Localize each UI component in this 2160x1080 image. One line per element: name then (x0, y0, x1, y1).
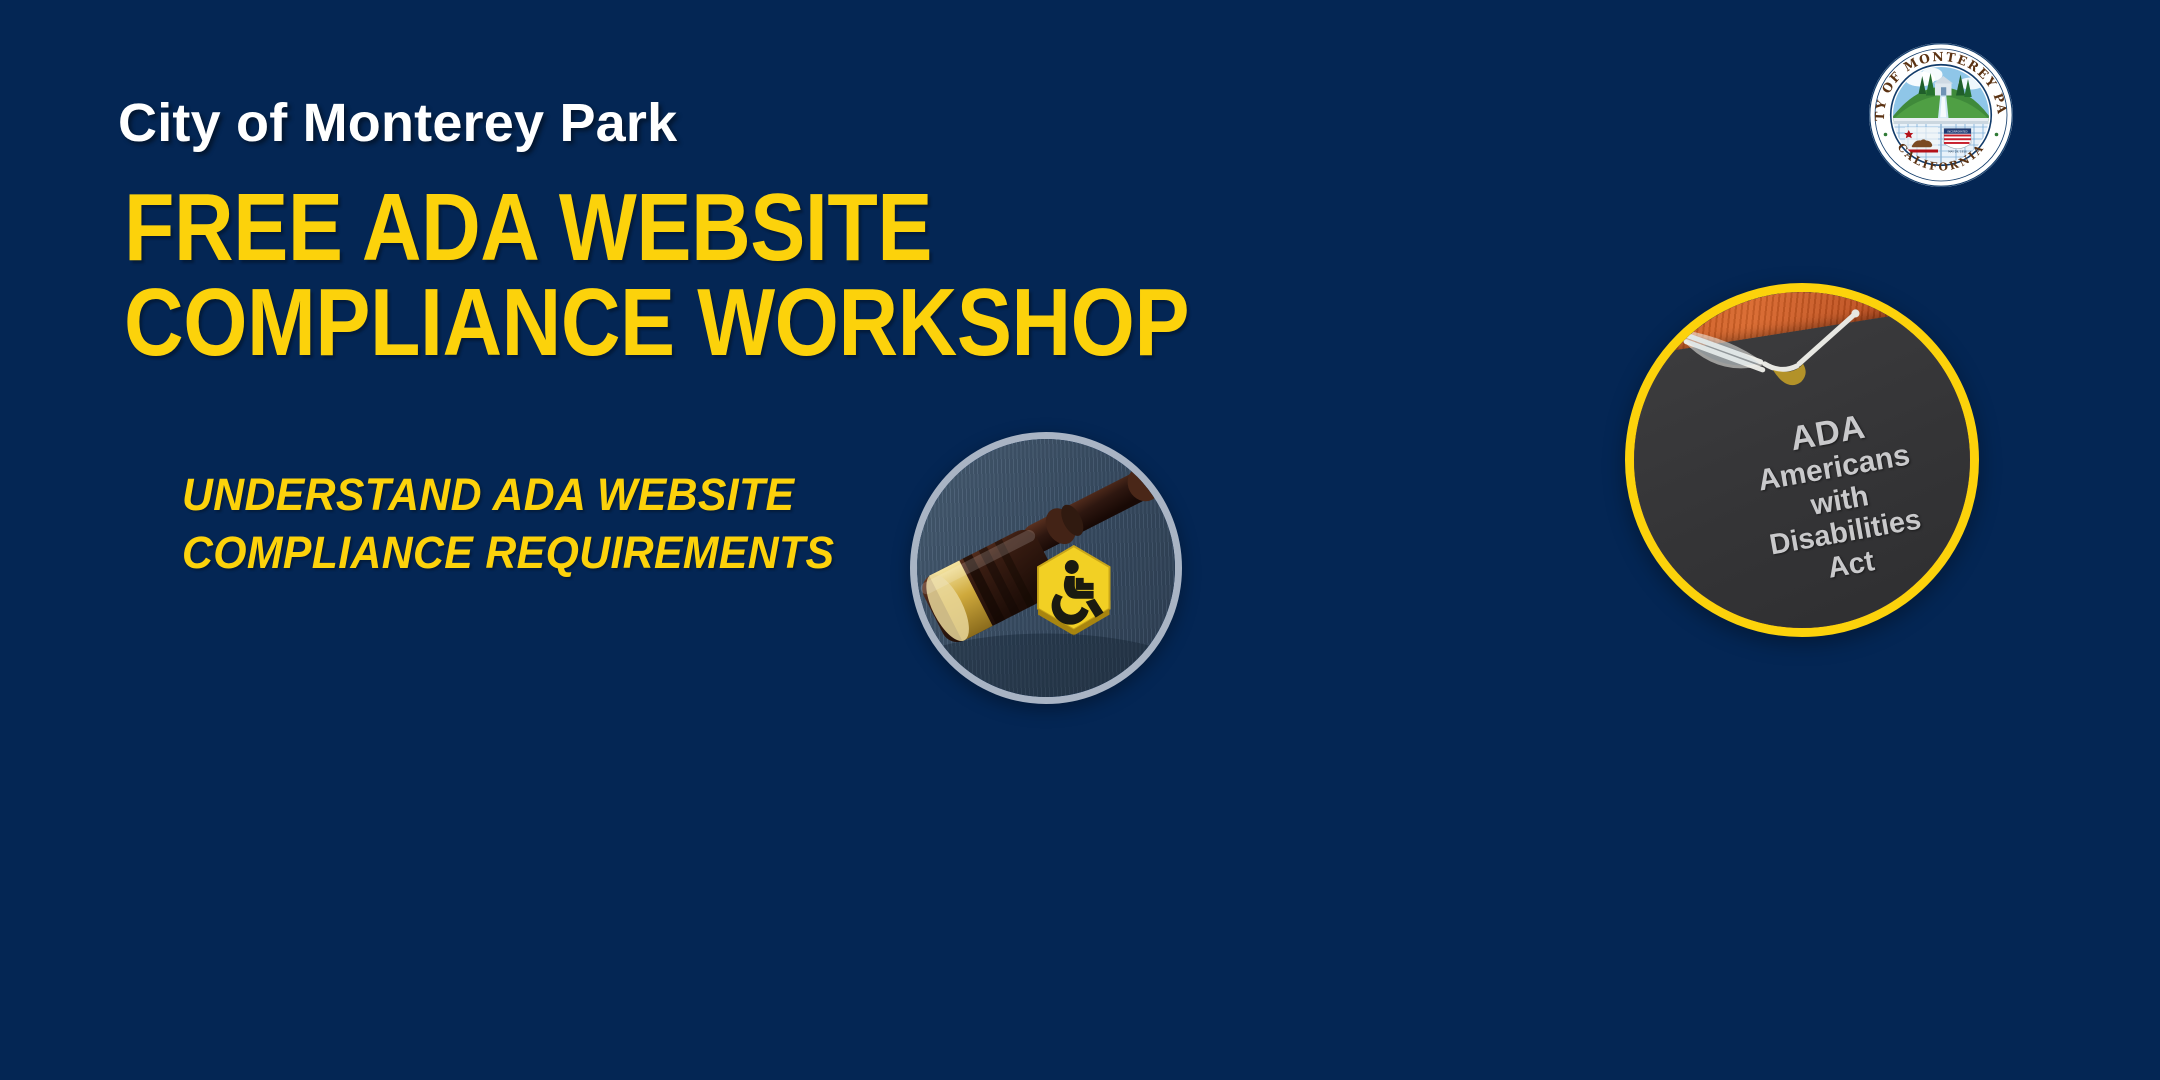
city-seal-logo: INCORPORATED MAY 29, 1916 CITY OF MONTER… (1866, 40, 2016, 190)
subheading: UNDERSTAND ADA WEBSITE COMPLIANCE REQUIR… (182, 466, 942, 581)
page-title: FREE ADA WEBSITE COMPLIANCE WORKSHOP (124, 180, 1036, 370)
subheading-line-2: COMPLIANCE REQUIREMENTS (182, 524, 942, 582)
ada-document-text: ADA Americans with Disabilities Act (1722, 396, 1957, 599)
seal-shield-bottom-text: MAY 29, 1916 (1948, 150, 1967, 154)
seal-shield-top-text: INCORPORATED (1947, 130, 1967, 134)
subheading-line-1: UNDERSTAND ADA WEBSITE (182, 466, 942, 524)
ada-photo-desk: ADA Americans with Disabilities Act (1634, 292, 1970, 628)
ada-document-photo: ADA Americans with Disabilities Act (1625, 283, 1979, 637)
gavel-accessibility-photo (910, 432, 1182, 704)
headline-line-2: COMPLIANCE WORKSHOP (124, 275, 1036, 370)
city-name: City of Monterey Park (118, 92, 677, 154)
gavel-photo-desk (917, 439, 1175, 697)
headline-line-1: FREE ADA WEBSITE (124, 180, 1036, 275)
banner-canvas: City of Monterey Park FREE ADA WEBSITE C… (0, 0, 2160, 1080)
